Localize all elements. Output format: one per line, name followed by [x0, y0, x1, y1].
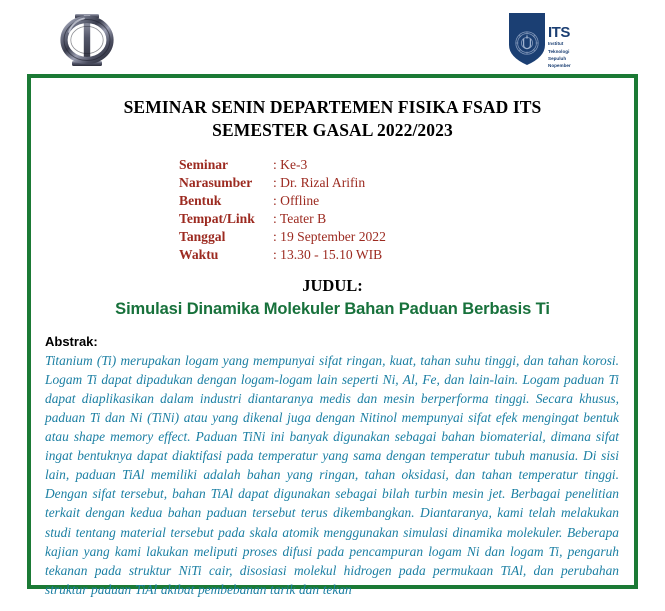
its-sub-line1: Institut: [548, 41, 583, 48]
its-logo-wordmark: ITS Institut Teknologi Sepuluh Nopember: [548, 25, 583, 70]
judul-heading: JUDUL:: [31, 276, 634, 296]
its-sub-line2: Teknologi: [548, 49, 583, 56]
abstrak-label: Abstrak:: [45, 334, 634, 349]
detail-label-tanggal: Tanggal: [179, 228, 273, 246]
detail-value-bentuk: : Offline: [273, 192, 386, 210]
detail-value-tanggal: : 19 September 2022: [273, 228, 386, 246]
abstrak-body: Titanium (Ti) merupakan logam yang mempu…: [45, 351, 619, 598]
table-row: Seminar : Ke-3: [179, 155, 386, 173]
its-logo: ITS Institut Teknologi Sepuluh Nopember: [509, 13, 583, 65]
detail-value-tempat-link: : Teater B: [273, 210, 386, 228]
detail-label-narasumber: Narasumber: [179, 173, 273, 191]
poster-header: ITS Institut Teknologi Sepuluh Nopember: [0, 0, 665, 74]
detail-label-bentuk: Bentuk: [179, 192, 273, 210]
phi-logo-icon: [57, 10, 117, 70]
table-row: Narasumber : Dr. Rizal Arifin: [179, 173, 386, 191]
poster-title-line1: SEMINAR SENIN DEPARTEMEN FISIKA FSAD ITS: [124, 97, 542, 117]
table-row: Tanggal : 19 September 2022: [179, 228, 386, 246]
seminar-details: Seminar : Ke-3 Narasumber : Dr. Rizal Ar…: [179, 155, 634, 264]
detail-label-waktu: Waktu: [179, 246, 273, 264]
detail-label-seminar: Seminar: [179, 155, 273, 173]
its-shield-icon: [509, 13, 545, 65]
table-row: Bentuk : Offline: [179, 192, 386, 210]
detail-label-tempat-link: Tempat/Link: [179, 210, 273, 228]
judul-title: Simulasi Dinamika Molekuler Bahan Paduan…: [31, 300, 634, 319]
table-row: Tempat/Link : Teater B: [179, 210, 386, 228]
seminar-details-table: Seminar : Ke-3 Narasumber : Dr. Rizal Ar…: [179, 155, 386, 264]
detail-value-waktu: : 13.30 - 15.10 WIB: [273, 246, 386, 264]
its-acronym: ITS: [548, 25, 583, 40]
poster-title: SEMINAR SENIN DEPARTEMEN FISIKA FSAD ITS…: [31, 96, 634, 142]
detail-value-narasumber: : Dr. Rizal Arifin: [273, 173, 386, 191]
poster-title-line2: SEMESTER GASAL 2022/2023: [31, 119, 634, 142]
its-sub-line3: Sepuluh Nopember: [548, 56, 583, 69]
table-row: Waktu : 13.30 - 15.10 WIB: [179, 246, 386, 264]
poster-card: SEMINAR SENIN DEPARTEMEN FISIKA FSAD ITS…: [27, 74, 638, 589]
detail-value-seminar: : Ke-3: [273, 155, 386, 173]
